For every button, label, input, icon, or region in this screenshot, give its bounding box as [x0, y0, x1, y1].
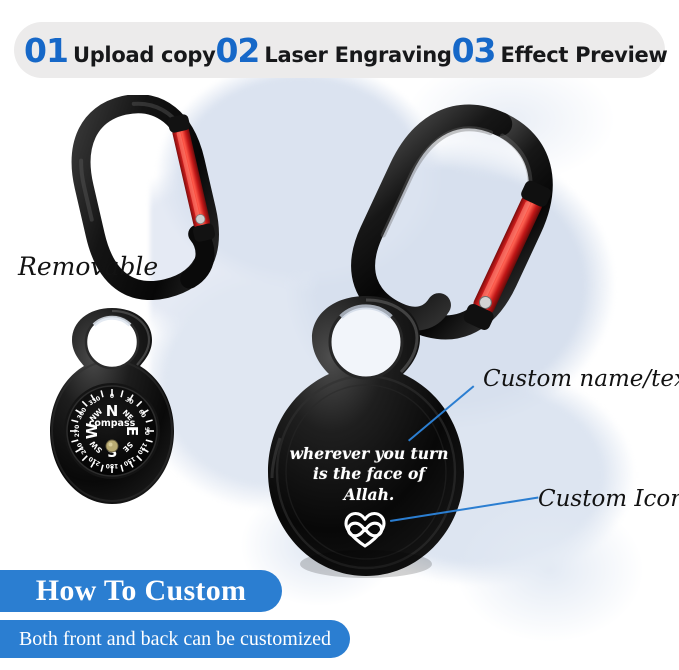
how-to-custom-title: How To Custom — [36, 574, 247, 608]
step-label: Effect Preview — [501, 43, 668, 67]
label-custom-icons: Custom Icons — [538, 486, 679, 512]
svg-text:180: 180 — [106, 462, 119, 469]
step-item-03: 03 Effect Preview — [452, 31, 668, 70]
label-custom-name-text: Custom name/text — [483, 366, 679, 392]
compass-brand-label: compass — [89, 418, 136, 429]
both-sides-subtitle: Both front and back can be customized — [19, 628, 331, 651]
label-removable: Removable — [18, 252, 158, 281]
svg-text:0: 0 — [110, 393, 114, 400]
infinity-heart-icon — [336, 508, 394, 550]
step-number: 02 — [215, 31, 259, 70]
step-item-02: 02 Laser Engraving — [215, 31, 451, 70]
step-item-01: 01 Upload copy — [24, 31, 215, 70]
step-label: Upload copy — [73, 43, 216, 67]
step-number: 01 — [24, 31, 68, 70]
steps-banner: 01 Upload copy 02 Laser Engraving 03 Eff… — [14, 22, 665, 78]
step-number: 03 — [452, 31, 496, 70]
step-label: Laser Engraving — [264, 43, 451, 67]
compass-pendant-small: 0 30 60 90 120 150 180 210 240 270 300 3… — [32, 298, 192, 538]
svg-text:90: 90 — [143, 427, 150, 435]
svg-text:270: 270 — [74, 425, 81, 438]
product-infographic: 01 Upload copy 02 Laser Engraving 03 Eff… — [0, 0, 679, 670]
how-to-custom-banner: How To Custom — [0, 570, 282, 612]
both-sides-banner: Both front and back can be customized — [0, 620, 350, 658]
